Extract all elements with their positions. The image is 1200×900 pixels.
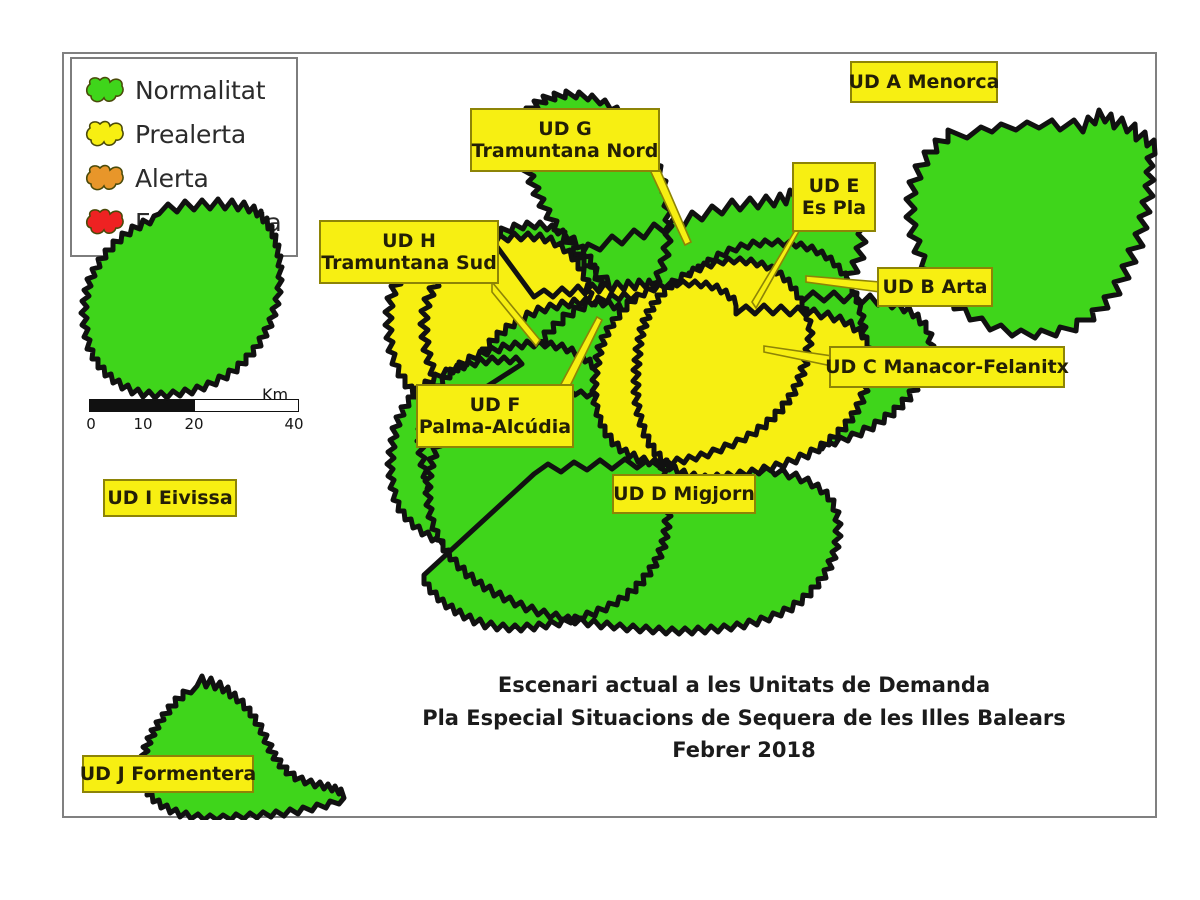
callout-ud-g-tramuntana-nord[interactable]: UD G Tramuntana Nord <box>470 108 660 172</box>
callout-ud-h-tramuntana-sud[interactable]: UD H Tramuntana Sud <box>319 220 499 284</box>
callout-ud-f-palma-alcudia[interactable]: UD F Palma-Alcúdia <box>416 384 574 448</box>
callout-line: UD C Manacor-Felanitx <box>825 356 1069 378</box>
callout-line: UD I Eivissa <box>107 487 232 509</box>
callout-ud-j-formentera[interactable]: UD J Formentera <box>82 755 254 793</box>
callout-line: UD H <box>382 230 436 252</box>
callout-ud-d-migjorn[interactable]: UD D Migjorn <box>612 474 756 514</box>
callout-ud-i-eivissa[interactable]: UD I Eivissa <box>103 479 237 517</box>
map-frame: Normalitat Prealerta Alerta Emergència <box>62 52 1157 818</box>
region-formentera[interactable] <box>140 676 344 820</box>
callout-line: UD E <box>809 175 860 197</box>
callout-line: UD J Formentera <box>80 763 257 785</box>
callout-ud-e-es-pla[interactable]: UD E Es Pla <box>792 162 876 232</box>
callout-line: Tramuntana Nord <box>472 140 659 162</box>
callout-line: UD D Migjorn <box>613 483 755 505</box>
region-eivissa[interactable] <box>81 199 282 398</box>
callout-line: Palma-Alcúdia <box>419 416 571 438</box>
callout-ud-c-manacor-felanitx[interactable]: UD C Manacor-Felanitx <box>829 346 1065 388</box>
callout-ud-a-menorca[interactable]: UD A Menorca <box>850 61 998 103</box>
map-figure: Normalitat Prealerta Alerta Emergència <box>0 0 1200 900</box>
callout-line: Es Pla <box>802 197 866 219</box>
callout-ud-b-arta[interactable]: UD B Arta <box>877 267 993 307</box>
callout-line: UD G <box>538 118 591 140</box>
callout-line: UD A Menorca <box>849 71 1000 93</box>
callout-line: UD F <box>470 394 521 416</box>
callout-line: Tramuntana Sud <box>321 252 497 274</box>
callout-line: UD B Arta <box>883 276 988 298</box>
